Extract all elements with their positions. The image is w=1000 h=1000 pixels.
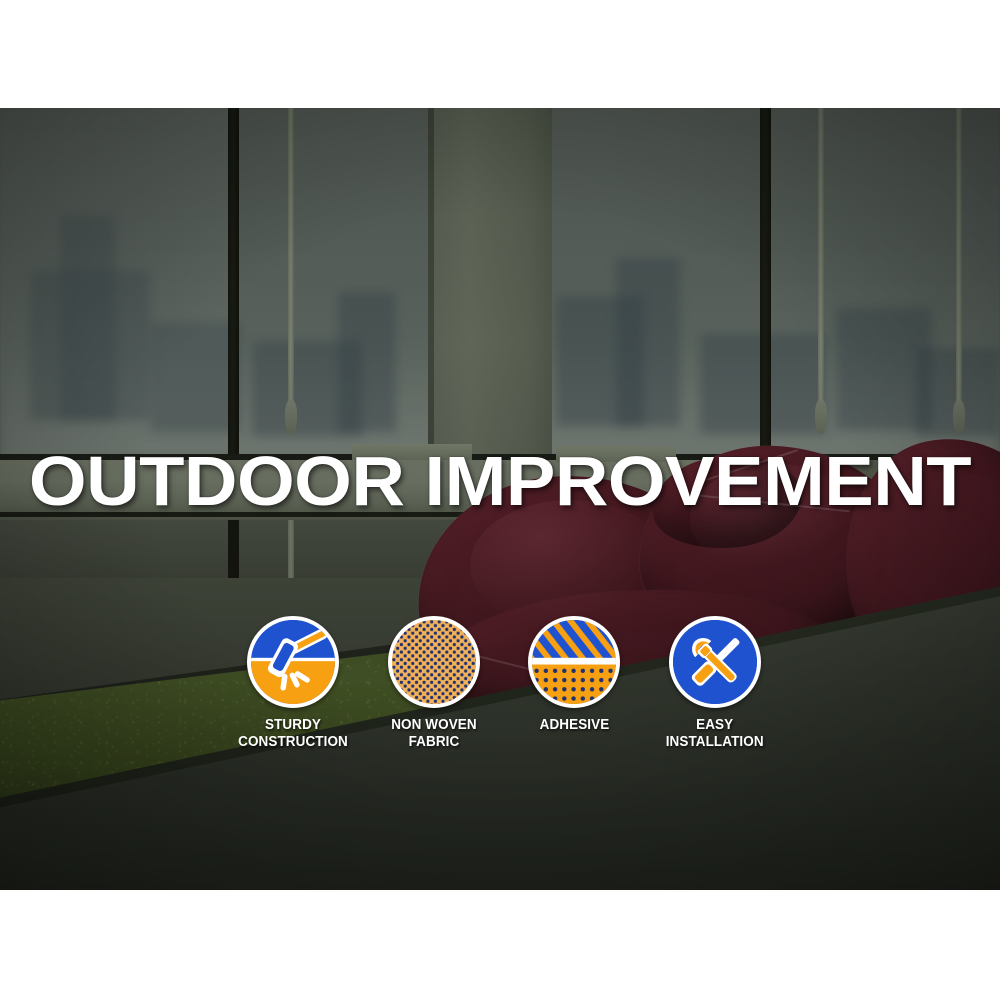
- feature-non-woven-fabric: NON WOVEN FABRIC: [369, 616, 499, 751]
- feature-sturdy-construction: STURDY CONSTRUCTION: [228, 616, 358, 751]
- feature-adhesive: ADHESIVE: [509, 616, 639, 734]
- feature-badge-row: STURDY CONSTRUCTION: [228, 616, 780, 751]
- striped-dots-adhesive-icon: [528, 616, 620, 708]
- feature-label: EASY INSTALLATION: [666, 717, 764, 751]
- frame-band-top: [0, 0, 1000, 108]
- window-mullion-thin: [818, 108, 824, 408]
- window-mullion-thin: [956, 108, 962, 408]
- woven-mesh-icon: [388, 616, 480, 708]
- hammer-peg-icon: [247, 616, 339, 708]
- window-mullion-thin: [288, 108, 294, 408]
- window-mullion: [760, 108, 771, 460]
- feature-easy-installation: EASY INSTALLATION: [650, 616, 780, 751]
- feature-label: STURDY CONSTRUCTION: [238, 717, 348, 751]
- skyline-building: [338, 292, 396, 432]
- product-banner-canvas: OUTDOOR IMPROVEMENT: [0, 0, 1000, 1000]
- hero-photo: OUTDOOR IMPROVEMENT: [0, 108, 1000, 890]
- skyline-building: [616, 258, 680, 426]
- window-mullion: [228, 108, 239, 460]
- feature-label: ADHESIVE: [539, 717, 609, 734]
- wall-panel-left: [0, 108, 232, 460]
- frame-band-bottom: [0, 890, 1000, 1000]
- feature-label: NON WOVEN FABRIC: [391, 717, 477, 751]
- screwdriver-wrench-icon: [669, 616, 761, 708]
- page-title: OUTDOOR IMPROVEMENT: [0, 446, 1000, 516]
